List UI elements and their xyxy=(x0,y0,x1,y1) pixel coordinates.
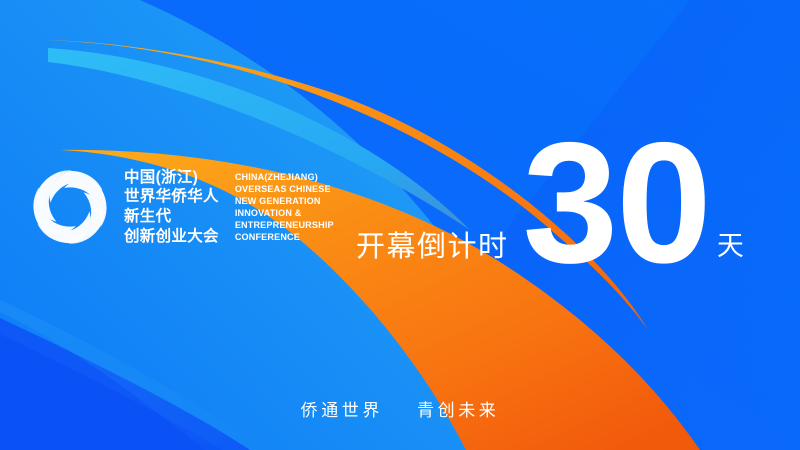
logo-en-line-1: CHINA(ZHEJIANG) xyxy=(235,171,334,183)
countdown-label: 开幕倒计时 xyxy=(356,233,509,278)
countdown-banner: 中国(浙江) 世界华侨华人 新生代 创新创业大会 CHINA(ZHEJIANG)… xyxy=(0,0,800,450)
slogan-block: 侨通世界 青创未来 xyxy=(0,396,800,421)
swirl-aperture-logo-icon xyxy=(26,163,114,251)
slogan-left: 侨通世界 xyxy=(301,396,383,421)
logo-en-line-4: INNOVATION & xyxy=(235,207,334,219)
slogan-right: 青创未来 xyxy=(417,396,499,421)
countdown-block: 开幕倒计时 30 天 xyxy=(356,118,776,278)
logo-en-line-5: ENTREPRENEURSHIP xyxy=(235,219,334,231)
logo-english-name: CHINA(ZHEJIANG) OVERSEAS CHINESE NEW GEN… xyxy=(235,171,334,244)
logo-en-line-3: NEW GENERATION xyxy=(235,195,334,207)
conference-logo-block: 中国(浙江) 世界华侨华人 新生代 创新创业大会 CHINA(ZHEJIANG)… xyxy=(26,163,334,251)
logo-cn-line-4: 创新创业大会 xyxy=(124,227,219,247)
logo-cn-line-3: 新生代 xyxy=(124,207,219,227)
logo-en-line-6: CONFERENCE xyxy=(235,231,334,243)
logo-cn-line-2: 世界华侨华人 xyxy=(124,187,219,207)
countdown-days-number: 30 xyxy=(523,130,710,278)
logo-cn-line-1: 中国(浙江) xyxy=(124,168,219,188)
logo-chinese-name: 中国(浙江) 世界华侨华人 新生代 创新创业大会 xyxy=(124,168,219,246)
countdown-unit: 天 xyxy=(717,233,744,278)
logo-en-line-2: OVERSEAS CHINESE xyxy=(235,183,334,195)
